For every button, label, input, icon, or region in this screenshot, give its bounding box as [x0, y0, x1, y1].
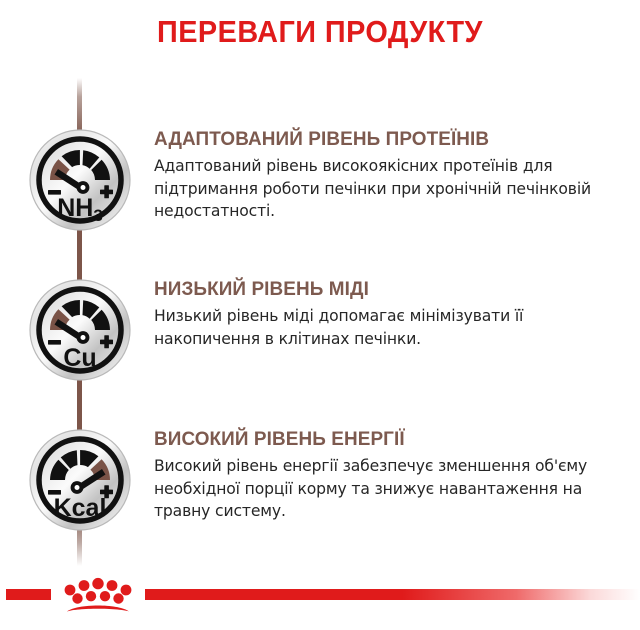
- feature-heading: АДАПТОВАНИЙ РІВЕНЬ ПРОТЕЇНІВ: [154, 128, 591, 150]
- logo-bar-left: [6, 589, 51, 600]
- feature-body: Адаптований рівень високоякісних протеїн…: [154, 155, 604, 223]
- feature-text-block: ВИСОКИЙ РІВЕНЬ ЕНЕРГІЇ Високий рівень ен…: [154, 428, 604, 523]
- royal-canin-crown-logo: [50, 574, 146, 614]
- gauge-label: Cu: [63, 344, 96, 372]
- gauge-kcal-icon: Kcal: [28, 428, 132, 532]
- product-benefits-infographic: ПЕРЕВАГИ ПРОДУКТУ: [0, 0, 640, 630]
- gauge-cu-icon: Cu: [28, 278, 132, 382]
- logo-bar-right: [145, 589, 640, 600]
- page-title: ПЕРЕВАГИ ПРОДУКТУ: [22, 14, 617, 50]
- feature-heading: ВИСОКИЙ РІВЕНЬ ЕНЕРГІЇ: [154, 428, 591, 450]
- gauge-label: Kcal: [54, 494, 107, 522]
- footer-logo-bar: [0, 578, 640, 610]
- feature-text-block: АДАПТОВАНИЙ РІВЕНЬ ПРОТЕЇНІВ Адаптований…: [154, 128, 604, 223]
- feature-heading: НИЗЬКИЙ РІВЕНЬ МІДІ: [154, 278, 591, 300]
- gauge-nh3-icon: NH3: [28, 128, 132, 232]
- feature-text-block: НИЗЬКИЙ РІВЕНЬ МІДІ Низький рівень міді …: [154, 278, 604, 350]
- feature-body: Низький рівень міді допомагає мінімізува…: [154, 305, 604, 350]
- feature-body: Високий рівень енергії забезпечує зменше…: [154, 455, 604, 523]
